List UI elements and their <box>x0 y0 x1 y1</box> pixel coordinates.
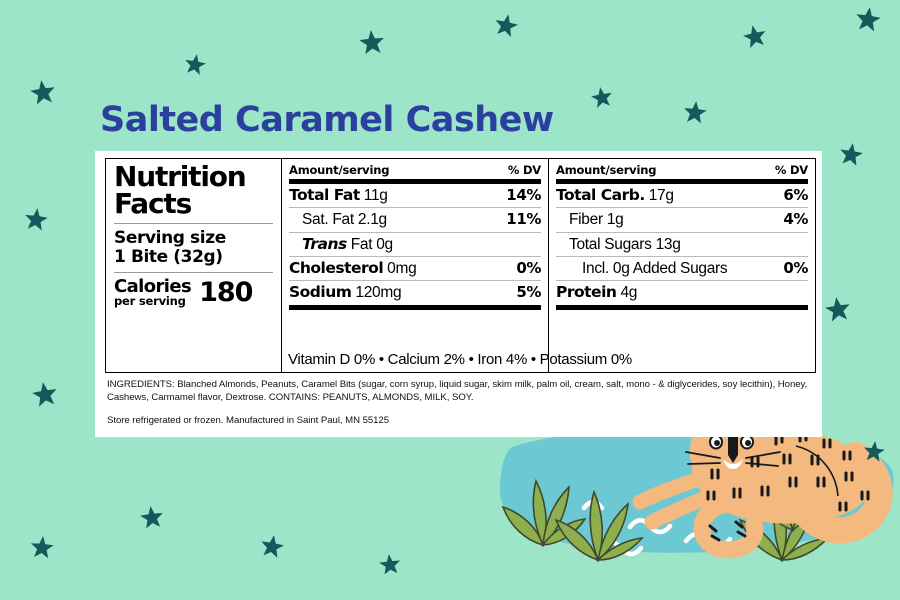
footer-rule-thick-left <box>289 305 541 310</box>
nutrient-daily-value: 6% <box>783 187 808 204</box>
nutrient-name: Trans Fat 0g <box>302 236 393 253</box>
footer-rule-thick-right <box>556 305 808 310</box>
nutrient-rows-right: Total Carb. 17g6%Fiber 1g4%Total Sugars … <box>556 184 808 305</box>
ingredients-text: INGREDIENTS: Blanched Almonds, Peanuts, … <box>107 379 815 404</box>
nutrient-name: Total Carb. 17g <box>556 187 674 204</box>
nutrient-daily-value: 14% <box>506 187 541 204</box>
amount-per-serving-header: Amount/serving <box>289 163 389 177</box>
nutrient-name-bold: Total Carb. <box>556 186 645 204</box>
column-header-right: Amount/serving % DV <box>556 163 808 179</box>
nutrients-column-left: Amount/serving % DV Total Fat 11g14%Sat.… <box>282 159 549 372</box>
nutrient-row: Fiber 1g4% <box>556 208 808 231</box>
nutrient-row: Protein 4g <box>556 281 808 304</box>
vitamins-row: Vitamin D 0% • Calcium 2% • Iron 4% • Po… <box>281 348 806 368</box>
storage-text: Store refrigerated or frozen. Manufactur… <box>107 415 389 426</box>
column-header-left: Amount/serving % DV <box>289 163 541 179</box>
nutrient-name: Sat. Fat 2.1g <box>302 211 387 228</box>
nutrient-name-bold: Total Fat <box>289 186 360 204</box>
nutrient-name: Fiber 1g <box>569 211 623 228</box>
calories-row: Calories per serving 180 <box>114 278 273 308</box>
nutrient-name-bold: Cholesterol <box>289 259 383 277</box>
nutrition-facts-heading: Nutrition Facts <box>114 164 273 217</box>
nutrient-name: Protein 4g <box>556 284 637 301</box>
amount-per-serving-header-2: Amount/serving <box>556 163 656 177</box>
nutrient-daily-value: 5% <box>516 284 541 301</box>
nutrient-daily-value: 0% <box>783 260 808 277</box>
nutrition-facts-box: Nutrition Facts Serving size 1 Bite (32g… <box>105 158 816 373</box>
nutrient-row: Cholesterol 0mg0% <box>289 257 541 280</box>
nutrient-name: Sodium 120mg <box>289 284 401 301</box>
nutrient-name-bold: Sodium <box>289 283 351 301</box>
nutrient-row: Total Carb. 17g6% <box>556 184 808 207</box>
page-title: Salted Caramel Cashew <box>100 100 554 140</box>
nutrient-row: Total Fat 11g14% <box>289 184 541 207</box>
calories-value: 180 <box>199 279 252 307</box>
nutrient-daily-value: 4% <box>783 211 808 228</box>
nutrients-column-right: Amount/serving % DV Total Carb. 17g6%Fib… <box>549 159 815 372</box>
nutrient-rows-left: Total Fat 11g14%Sat. Fat 2.1g11%Trans Fa… <box>289 184 541 305</box>
nutrient-name: Incl. 0g Added Sugars <box>582 260 727 277</box>
nutrient-name: Total Fat 11g <box>289 187 388 204</box>
serving-size-label: Serving size <box>114 229 273 247</box>
nutrition-summary-column: Nutrition Facts Serving size 1 Bite (32g… <box>106 159 282 372</box>
nutrient-name-bold: Trans <box>302 235 347 253</box>
nutrition-label-panel: Nutrition Facts Serving size 1 Bite (32g… <box>95 151 822 437</box>
divider-rule-2 <box>114 272 273 273</box>
calories-labels: Calories per serving <box>114 278 191 308</box>
serving-size-block: Serving size 1 Bite (32g) <box>114 229 273 266</box>
nutrient-daily-value: 0% <box>516 260 541 277</box>
percent-dv-header: % DV <box>508 163 541 177</box>
nutrient-row: Trans Fat 0g <box>289 233 541 256</box>
nutrient-name-bold: Protein <box>556 283 616 301</box>
nutrient-name: Total Sugars 13g <box>569 236 681 253</box>
nutrient-row: Total Sugars 13g <box>556 233 808 256</box>
nutrient-daily-value: 11% <box>506 211 541 228</box>
nutrition-heading-line2: Facts <box>114 191 273 218</box>
nutrient-row: Sat. Fat 2.1g11% <box>289 208 541 231</box>
divider-rule <box>114 223 273 224</box>
nutrient-name: Cholesterol 0mg <box>289 260 416 277</box>
percent-dv-header-2: % DV <box>775 163 808 177</box>
nutrient-row: Incl. 0g Added Sugars0% <box>556 257 808 280</box>
nutrient-row: Sodium 120mg5% <box>289 281 541 304</box>
serving-size-value: 1 Bite (32g) <box>114 248 273 266</box>
calories-per-serving-label: per serving <box>114 296 191 308</box>
